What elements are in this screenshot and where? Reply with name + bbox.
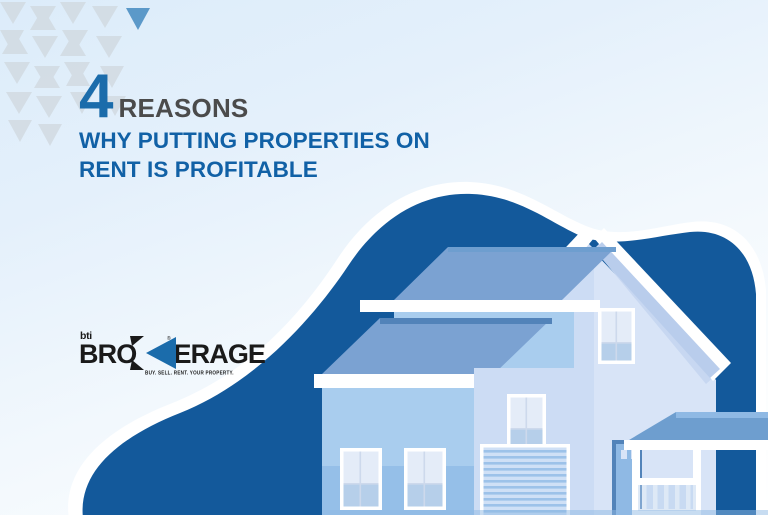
garage-door — [480, 444, 570, 515]
headline-reasons-label: REASONS — [111, 95, 248, 123]
left-window-two — [404, 448, 446, 510]
logo-registered-mark: ® — [167, 337, 171, 342]
headline-block: 4 REASONS WHY PUTTING PROPERTIES ON RENT… — [79, 72, 499, 184]
headline-row-one: 4 REASONS — [79, 72, 499, 123]
logo-tagline: BUY. SELL. RENT. YOUR PROPERTY. — [145, 371, 234, 376]
headline-number: 4 — [79, 72, 111, 123]
upper-window — [598, 308, 635, 364]
logo-wordmark-part-one: BRO — [79, 339, 136, 369]
headline-subtitle: WHY PUTTING PROPERTIES ON RENT IS PROFIT… — [79, 127, 499, 185]
porch-railing — [636, 478, 698, 515]
brand-logo[interactable]: bti BROKKERAGE ® BUY. SELL. RENT. YOUR P… — [79, 330, 249, 386]
left-window-one — [340, 448, 382, 510]
headline-line-three: RENT IS PROFITABLE — [79, 156, 499, 185]
headline-line-two: WHY PUTTING PROPERTIES ON — [79, 127, 499, 156]
banner-root: 4 REASONS WHY PUTTING PROPERTIES ON RENT… — [0, 0, 768, 515]
logo-wordmark-part-two: ERAGE — [174, 339, 266, 369]
middle-window — [507, 394, 546, 451]
